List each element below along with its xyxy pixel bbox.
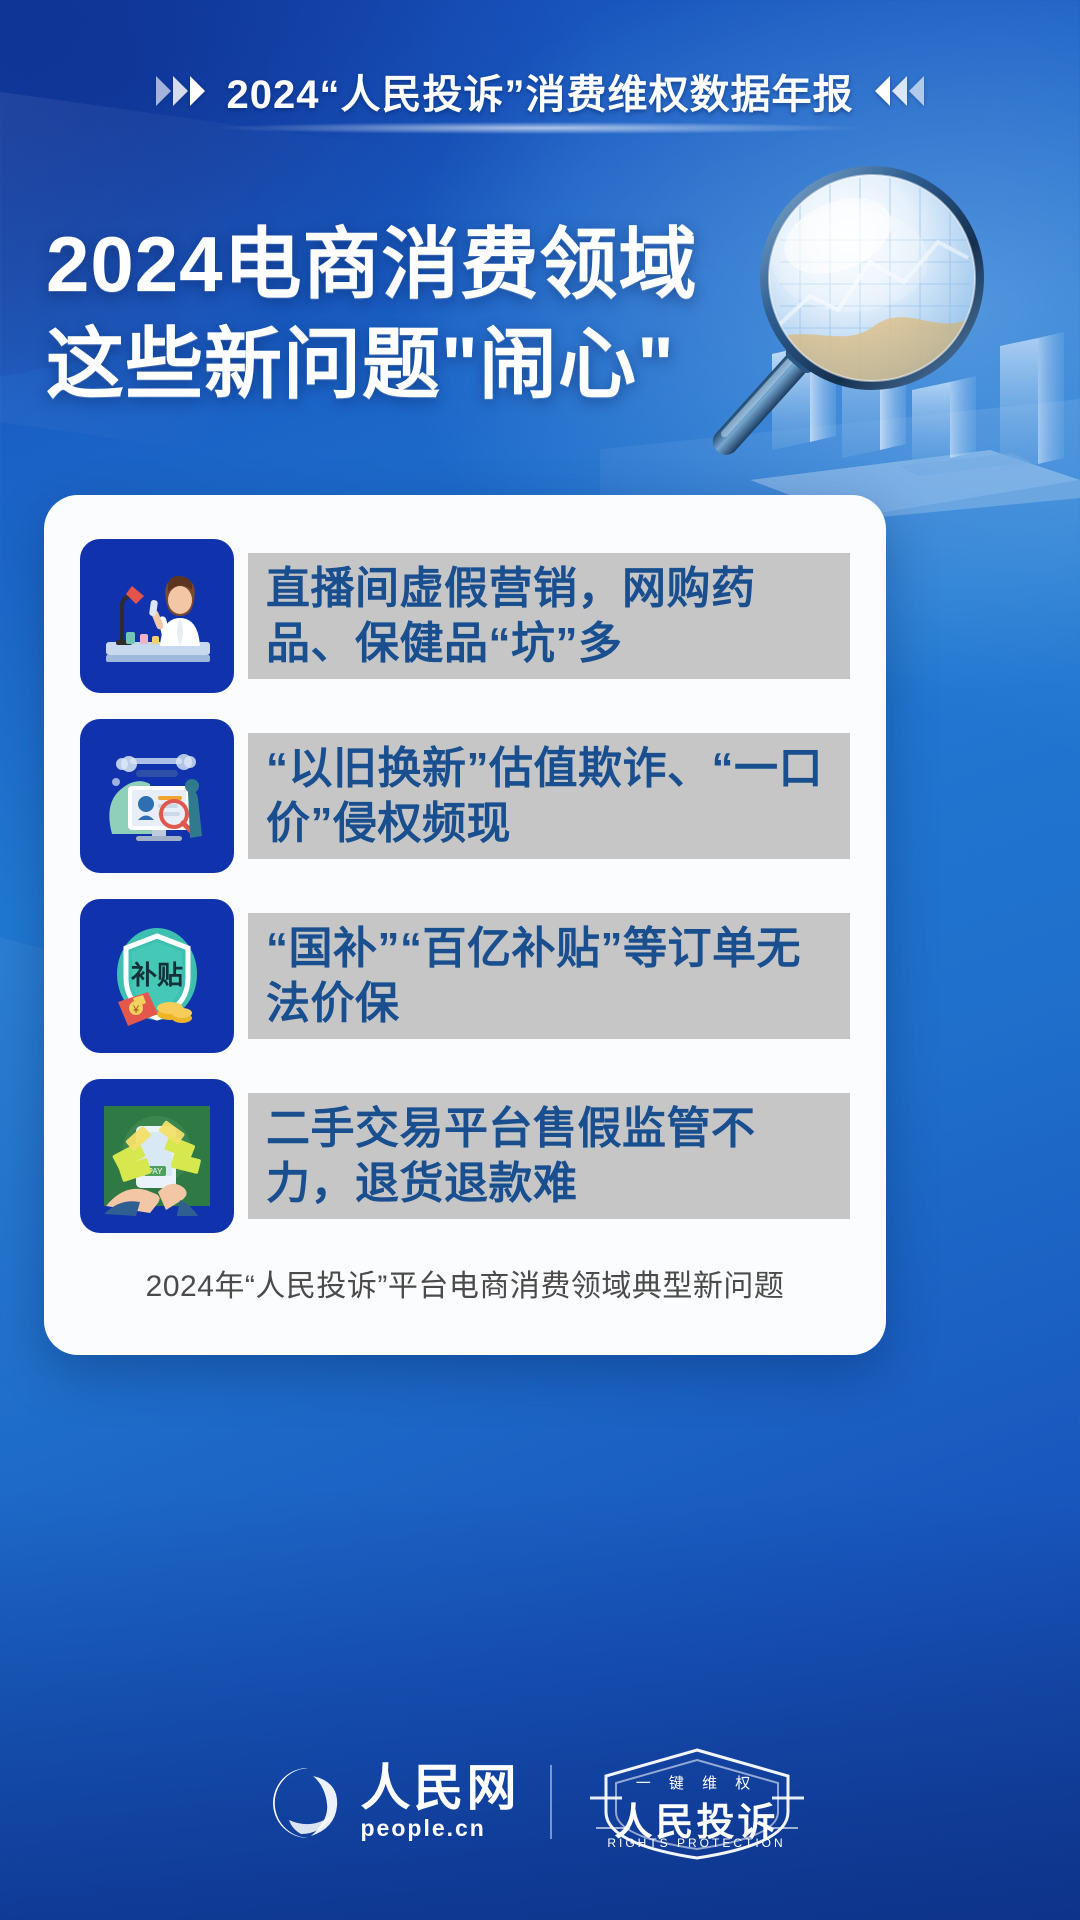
card-caption: 2024年“人民投诉”平台电商消费领域典型新问题 (80, 1261, 850, 1305)
page-header: 2024“人民投诉”消费维权数据年报 (0, 62, 1080, 120)
footer-divider (550, 1765, 552, 1839)
people-cn-logo[interactable]: 人民网 people.cn (269, 1763, 520, 1842)
people-cn-globe-icon (269, 1764, 347, 1842)
list-item[interactable]: 补贴 ¥ “国补”“百亿补贴”等订单无法价保 (80, 899, 850, 1053)
people-cn-name-cn: 人民网 (361, 1763, 520, 1813)
list-item[interactable]: 直播间虚假营销，网购药品、保健品“坑”多 (80, 539, 850, 693)
livestream-host-illustration-icon (80, 539, 234, 693)
page-title: 2024电商消费领域 这些新问题"闹心" (46, 215, 698, 415)
problem-list-card: 直播间虚假营销，网购药品、保健品“坑”多 (44, 495, 886, 1355)
people-cn-name-en: people.cn (361, 1815, 486, 1842)
header-title: 2024“人民投诉”消费维权数据年报 (227, 62, 854, 120)
list-item-band: “国补”“百亿补贴”等订单无法价保 (248, 913, 850, 1039)
list-item-band: 直播间虚假营销，网购药品、保健品“坑”多 (248, 553, 850, 679)
page-title-line-1: 2024电商消费领域 (46, 215, 698, 315)
trade-in-appraisal-illustration-icon (80, 719, 234, 873)
list-item-text: 直播间虚假营销，网购药品、保健品“坑”多 (266, 561, 836, 672)
complaint-badge-logo[interactable]: 一 键 维 权 人民投诉 RIGHTS PROTECTION (582, 1742, 812, 1862)
subsidy-label: 补贴 (131, 960, 183, 990)
chevron-left-triple-icon (875, 76, 924, 106)
list-item[interactable]: “以旧换新”估值欺诈、“一口价”侵权频现 (80, 719, 850, 873)
badge-top-text: 一 键 维 权 (582, 1772, 812, 1793)
list-item-text: “以旧换新”估值欺诈、“一口价”侵权频现 (266, 741, 836, 852)
page-title-line-2: 这些新问题"闹心" (46, 315, 698, 415)
list-item-band: “以旧换新”估值欺诈、“一口价”侵权频现 (248, 733, 850, 859)
list-item[interactable]: PAY (80, 1079, 850, 1233)
problem-list: 直播间虚假营销，网购药品、保健品“坑”多 (80, 539, 850, 1233)
secondhand-payment-illustration-icon: PAY (80, 1079, 234, 1233)
page-footer: 人民网 people.cn 一 键 维 权 人民投诉 RIGHTS PROTEC… (0, 1742, 1080, 1862)
magnifier-over-bar-chart-illustration (660, 150, 1080, 520)
svg-text:¥: ¥ (132, 1004, 140, 1016)
badge-sub-text: RIGHTS PROTECTION (582, 1836, 812, 1850)
header-underglow (220, 122, 860, 134)
list-item-band: 二手交易平台售假监管不力，退货退款难 (248, 1093, 850, 1219)
list-item-text: “国补”“百亿补贴”等订单无法价保 (266, 921, 836, 1032)
chevron-right-triple-icon (156, 76, 205, 106)
subsidy-shield-illustration-icon: 补贴 ¥ (80, 899, 234, 1053)
list-item-text: 二手交易平台售假监管不力，退货退款难 (266, 1101, 836, 1212)
